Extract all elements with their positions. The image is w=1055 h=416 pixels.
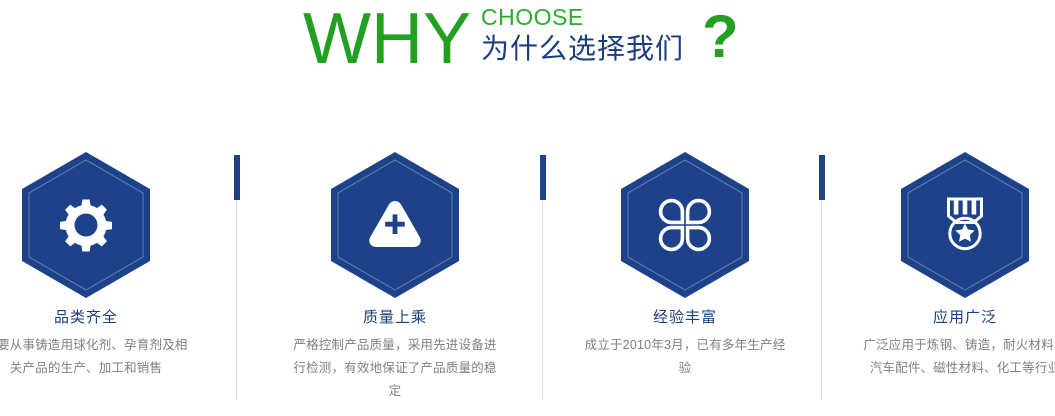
- heading-choose-word: CHOOSE: [481, 4, 684, 30]
- divider-cap: [234, 155, 240, 200]
- feature-title: 应用广泛: [840, 308, 1055, 328]
- hexagon-shape: [20, 150, 152, 300]
- feature-hexagon-4[interactable]: [899, 150, 1031, 300]
- feature-description: 严格控制产品质量，采用先进设备进行检测，有效地保证了产品质量的稳定: [270, 334, 520, 403]
- feature-hexagon-1[interactable]: [20, 150, 152, 300]
- divider-cap: [540, 155, 546, 200]
- hexagon-shape: [619, 150, 751, 300]
- feature-title: 经验丰富: [560, 308, 810, 328]
- feature-description: 广泛应用于炼钢、铸造，耐火材料、汽车配件、磁性材料、化工等行业: [840, 334, 1055, 380]
- why-choose-us-section: WHY CHOOSE 为什么选择我们 ?: [0, 0, 1055, 416]
- feature-description: 成立于2010年3月，已有多年生产经验: [560, 334, 810, 380]
- feature-title: 品类齐全: [0, 308, 211, 328]
- feature-description: 主要从事铸造用球化剂、孕育剂及相关产品的生产、加工和销售: [0, 334, 211, 380]
- feature-column-2[interactable]: 质量上乘 严格控制产品质量，采用先进设备进行检测，有效地保证了产品质量的稳定: [270, 150, 520, 403]
- feature-title: 质量上乘: [270, 308, 520, 328]
- heading-chinese-title: 为什么选择我们: [481, 32, 684, 66]
- feature-column-3[interactable]: 经验丰富 成立于2010年3月，已有多年生产经验: [560, 150, 810, 380]
- hexagon-shape: [329, 150, 461, 300]
- divider-tail: [542, 200, 543, 400]
- hexagon-shape: [899, 150, 1031, 300]
- heading-why-word: WHY: [303, 0, 471, 78]
- feature-hexagon-3[interactable]: [619, 150, 751, 300]
- divider-cap: [819, 155, 825, 200]
- feature-column-4[interactable]: 应用广泛 广泛应用于炼钢、铸造，耐火材料、汽车配件、磁性材料、化工等行业: [840, 150, 1055, 380]
- section-heading: WHY CHOOSE 为什么选择我们 ?: [0, 0, 1055, 90]
- divider-tail: [236, 200, 237, 400]
- feature-column-1[interactable]: 品类齐全 主要从事铸造用球化剂、孕育剂及相关产品的生产、加工和销售: [0, 150, 211, 380]
- feature-hexagon-2[interactable]: [329, 150, 461, 300]
- divider-tail: [821, 200, 822, 400]
- heading-question-mark: ?: [702, 6, 739, 68]
- heading-middle-block: CHOOSE 为什么选择我们: [481, 0, 684, 66]
